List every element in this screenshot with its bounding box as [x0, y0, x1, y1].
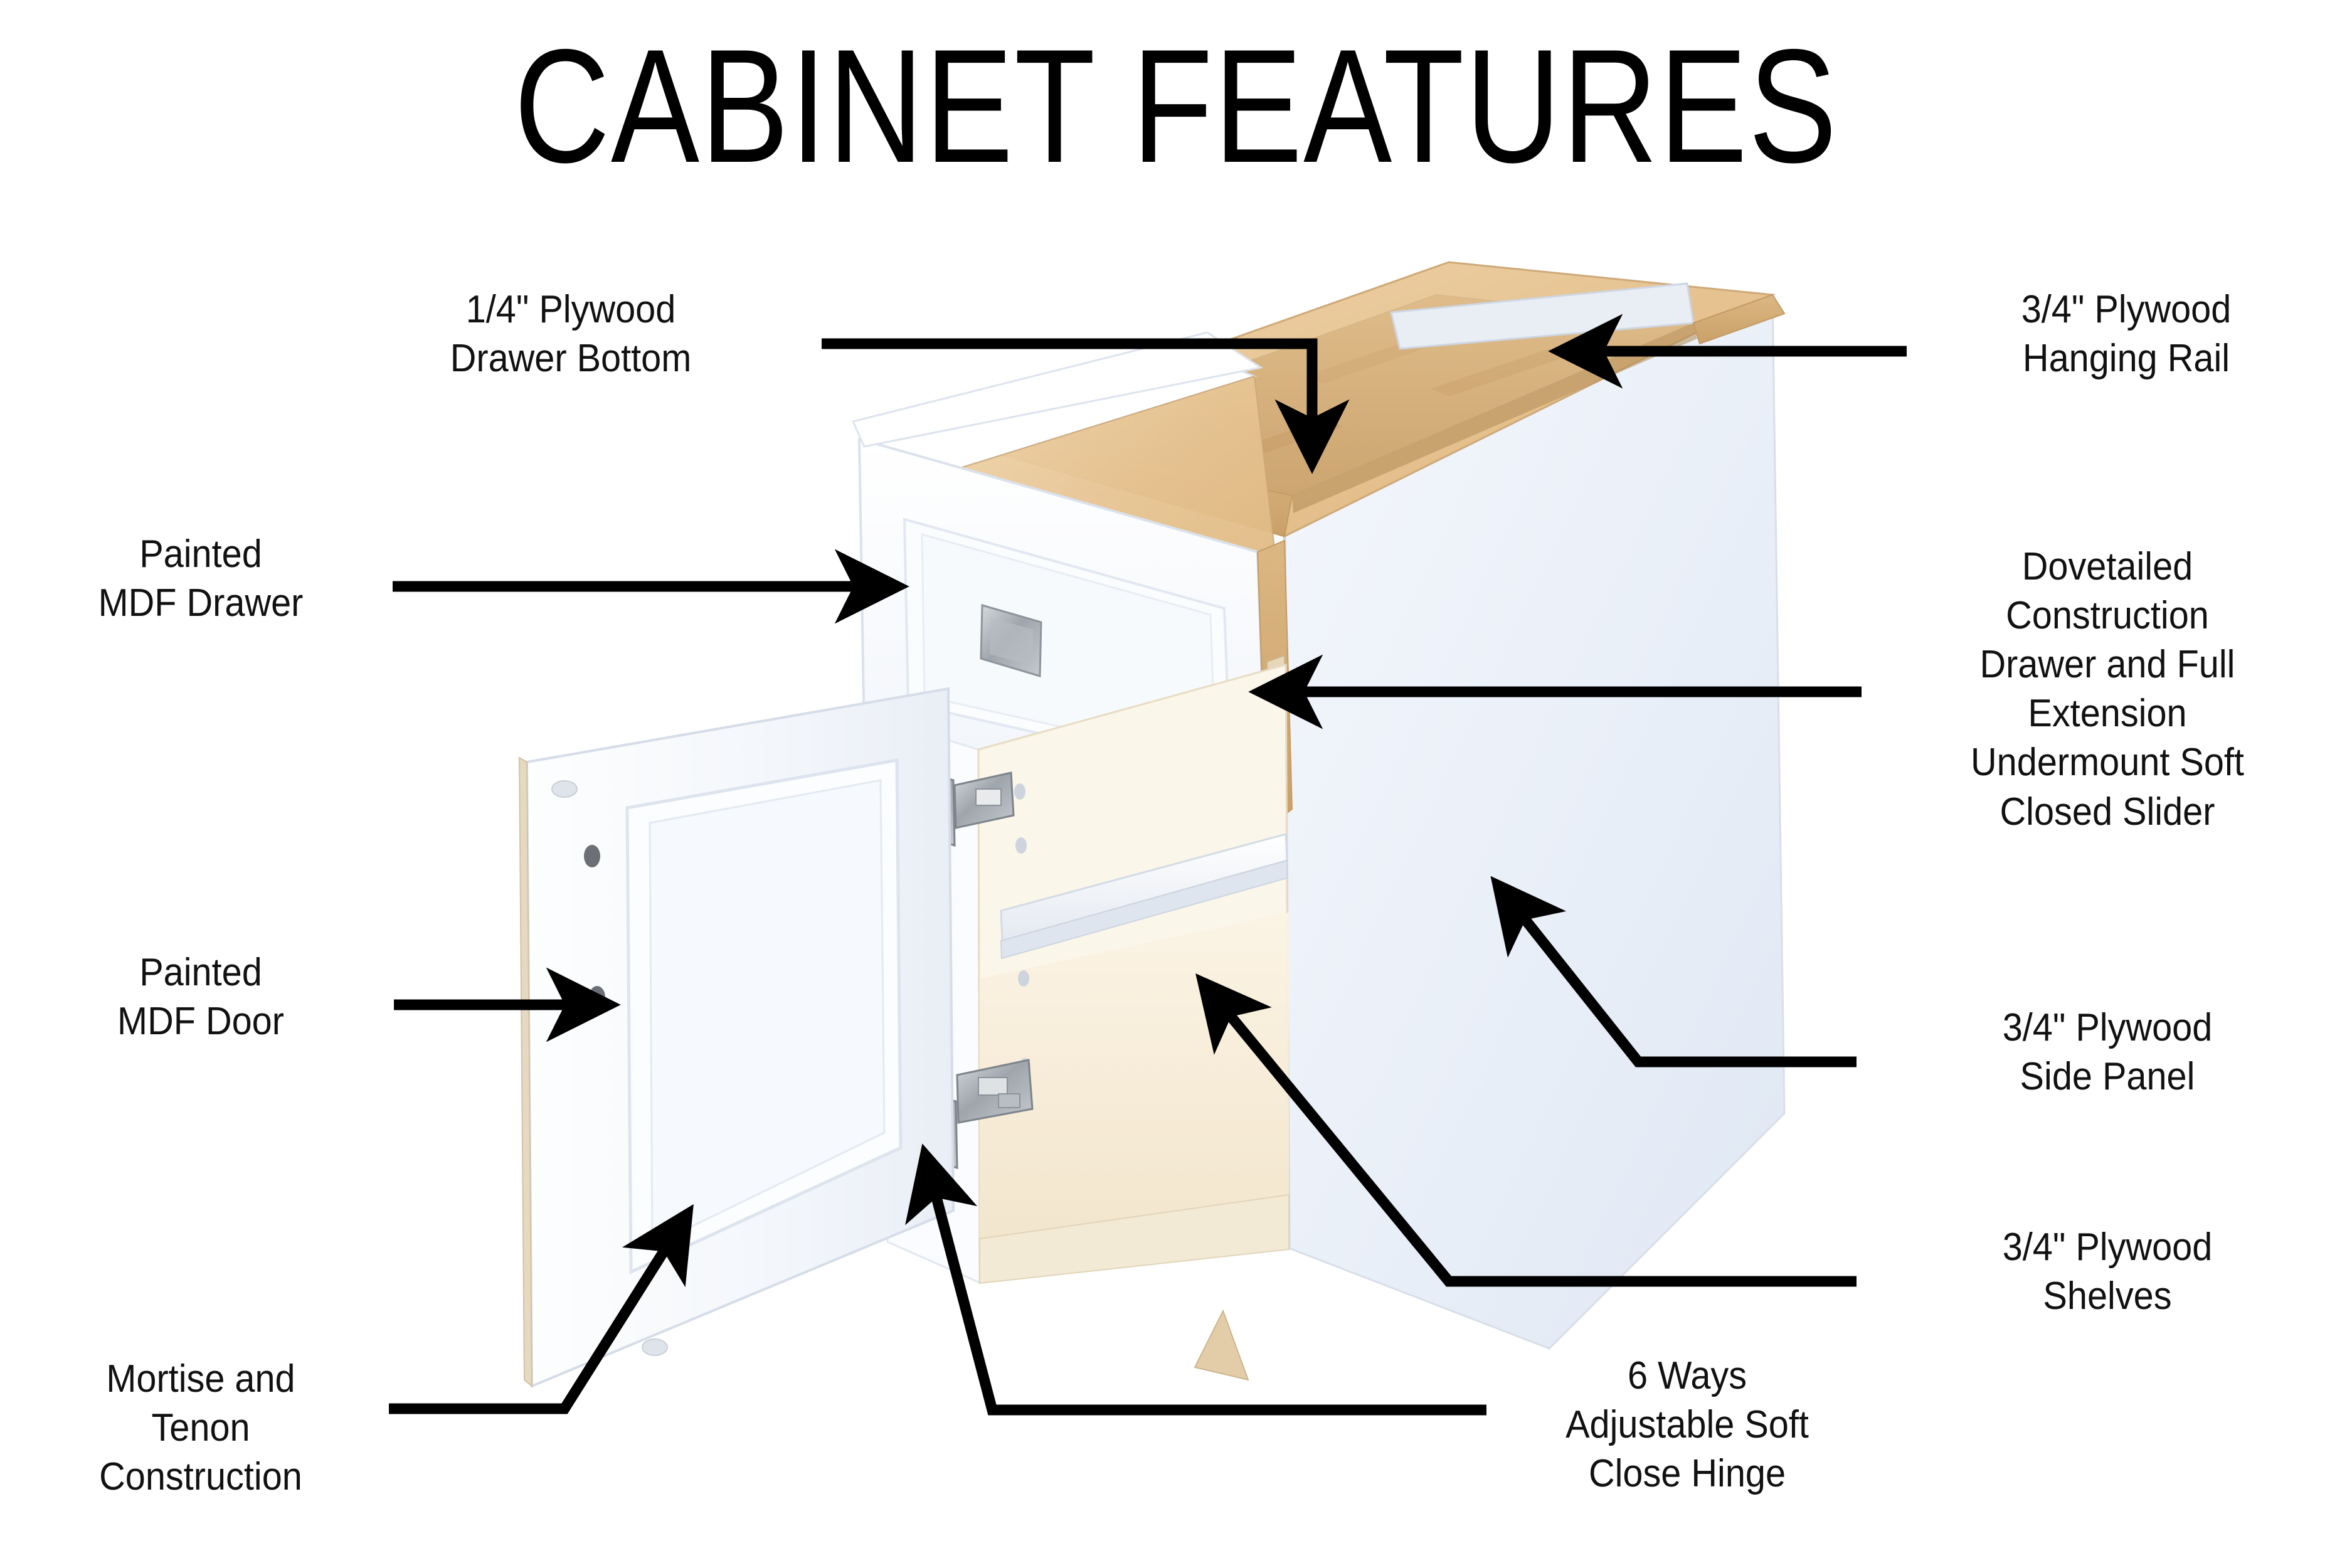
callout-line: Dovetailed	[1892, 543, 2323, 591]
infographic-canvas: CABINET FEATURES	[0, 0, 2352, 1568]
callout-plywood-hanging-rail: 3/4" Plywood Hanging Rail	[1934, 285, 2319, 383]
callout-line: Close Hinge	[1507, 1449, 1868, 1498]
callout-line: Undermount Soft	[1892, 738, 2323, 787]
callout-line: Tenon	[26, 1404, 376, 1453]
callout-plywood-side-panel: 3/4" Plywood Side Panel	[1904, 1004, 2312, 1101]
callout-line: Drawer and Full	[1892, 640, 2323, 689]
callout-line: Adjustable Soft	[1507, 1401, 1868, 1449]
cabinet-base	[1195, 1311, 1248, 1380]
callout-line: Hanging Rail	[1934, 334, 2319, 383]
callout-line: Shelves	[1904, 1272, 2312, 1321]
callout-line: 3/4" Plywood	[1904, 1223, 2312, 1272]
callout-line: Construction	[1892, 591, 2323, 640]
callout-line: 3/4" Plywood	[1934, 285, 2319, 334]
callout-line: Construction	[26, 1453, 376, 1502]
callout-line: Extension	[1892, 689, 2323, 738]
callout-line: 3/4" Plywood	[1904, 1004, 2312, 1052]
callout-line: MDF Door	[26, 997, 376, 1046]
callout-line: Drawer Bottom	[367, 334, 775, 383]
callout-line: Mortise and	[26, 1355, 376, 1404]
callout-line: 6 Ways	[1507, 1352, 1868, 1401]
callout-line: Painted	[26, 530, 376, 579]
callout-line: Painted	[26, 948, 376, 997]
callout-painted-mdf-drawer: Painted MDF Drawer	[26, 530, 376, 628]
callout-dovetailed-construction: Dovetailed Construction Drawer and Full …	[1892, 543, 2323, 837]
callout-plywood-drawer-bottom: 1/4" Plywood Drawer Bottom	[367, 285, 775, 383]
callout-painted-mdf-door: Painted MDF Door	[26, 948, 376, 1046]
callout-soft-close-hinge: 6 Ways Adjustable Soft Close Hinge	[1507, 1352, 1868, 1498]
callout-line: Closed Slider	[1892, 788, 2323, 837]
callout-line: 1/4" Plywood	[367, 285, 775, 334]
callout-plywood-shelves: 3/4" Plywood Shelves	[1904, 1223, 2312, 1321]
callout-line: MDF Drawer	[26, 579, 376, 628]
callout-line: Side Panel	[1904, 1052, 2312, 1101]
callout-mortise-and-tenon: Mortise and Tenon Construction	[26, 1355, 376, 1502]
